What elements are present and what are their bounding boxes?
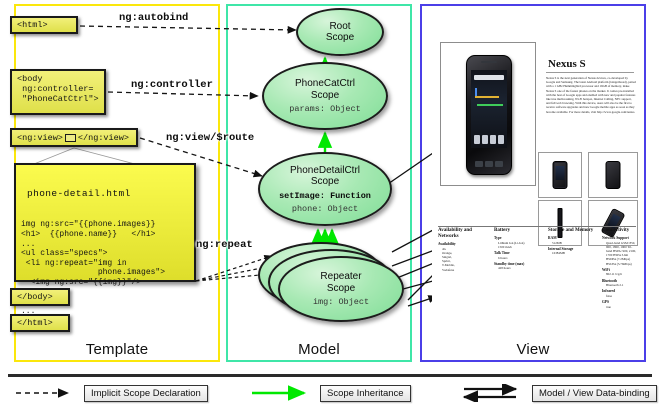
spec-value: 16384MB <box>548 251 596 255</box>
ngview-open-text: <ng:view> <box>17 133 63 143</box>
scope-root-line1: Root <box>329 21 350 33</box>
view-product-description: Nexus S is the next generation of Nexus … <box>546 76 636 138</box>
spec-value: Bluetooth 2.1 <box>602 283 654 287</box>
scope-repeater: Repeater Scope img: Object <box>278 256 404 322</box>
legend-label-data-binding: Model / View Data-binding <box>532 385 657 402</box>
code-html-open: <html> <box>10 16 78 34</box>
scope-phonecatctrl-line1: PhoneCatCtrl <box>295 78 355 90</box>
diagram-canvas: Template Model View <box>0 0 660 420</box>
code-body-close-text: </body> <box>17 292 53 302</box>
spec-col-header: Battery <box>494 228 538 234</box>
spec-value: HSUPA (5.76Mbps) <box>602 262 654 266</box>
legend-item-data-binding: Model / View Data-binding <box>460 382 657 404</box>
phone-hardware-keys <box>472 159 506 169</box>
spec-value: true <box>602 305 654 309</box>
code-html-open-text: <html> <box>17 20 48 30</box>
thumbnail-phone-front-icon <box>553 161 568 189</box>
view-title-rule <box>546 72 634 73</box>
spec-value: 428 hours <box>494 266 538 270</box>
spec-col-header: Storage and Memory <box>548 228 596 234</box>
spec-value: Vodafone <box>438 268 484 272</box>
scope-root-line2: Scope <box>326 32 354 44</box>
scope-phonedetailctrl-line2: Scope <box>311 176 339 188</box>
phone-hero-image <box>440 42 536 186</box>
label-ng-repeat: ng:repeat <box>196 239 253 251</box>
spec-value: 6 hours <box>494 256 538 260</box>
label-ng-controller: ng:controller <box>131 79 213 91</box>
view-thumbnail-2[interactable] <box>588 152 638 198</box>
panel-view-label: View <box>422 341 644 358</box>
code-body-open: <body ng:controller= "PhoneCatCtrl"> <box>10 69 106 115</box>
scope-phonecatctrl-line2: Scope <box>311 90 339 102</box>
ngview-placeholder-icon <box>65 134 76 142</box>
spec-col-header: Availability and Networks <box>438 228 484 240</box>
view-spec-table: Availability and Networks Availability 4… <box>438 228 636 302</box>
phone-urlbar-icon <box>474 75 504 80</box>
phone-screen <box>471 70 507 148</box>
scope-phonecatctrl-prop-params: params: Object <box>289 104 360 114</box>
scope-phonedetailctrl-prop-phone: phone: Object <box>292 204 358 214</box>
code-html-close: </html> <box>10 314 70 332</box>
label-ng-autobind: ng:autobind <box>119 12 188 24</box>
green-arrow-icon <box>248 384 314 402</box>
ngview-close-text: </ng:view> <box>78 133 129 143</box>
spec-value: 1500 mAh <box>494 245 538 249</box>
phone-app-icons <box>474 135 504 144</box>
view-product-title: Nexus S <box>548 58 586 70</box>
scope-repeater-prop-img: img: Object <box>313 297 369 307</box>
code-html-close-text: </html> <box>17 318 53 328</box>
legend: Implicit Scope Declaration Scope Inherit… <box>8 382 652 408</box>
code-body-open-text: <body ng:controller= "PhoneCatCtrl"> <box>17 74 99 104</box>
phone-graphic-green <box>477 104 503 106</box>
spec-column-availability: Availability and Networks Availability 4… <box>438 228 484 272</box>
legend-label-implicit-scope: Implicit Scope Declaration <box>84 385 208 402</box>
legend-item-scope-inheritance: Scope Inheritance <box>248 382 411 404</box>
view-thumbnail-1[interactable] <box>538 152 582 198</box>
sticky-note-title: phone-detail.html <box>21 187 189 200</box>
spec-column-storage: Storage and Memory RAM 512MB Internal St… <box>548 228 596 256</box>
phone-speaker-icon <box>481 61 497 63</box>
scope-repeater-line1: Repeater <box>320 271 361 283</box>
spec-col-header: Connectivity <box>602 228 654 234</box>
view-spec-rule <box>438 226 636 227</box>
spec-column-connectivity: Connectivity Network Support Quad-band G… <box>602 228 654 309</box>
scope-root: Root Scope <box>296 8 384 56</box>
panel-model-label: Model <box>228 341 410 358</box>
double-arrow-icon <box>460 384 526 402</box>
scope-phonedetailctrl-line1: PhoneDetailCtrl <box>290 165 360 177</box>
legend-divider <box>8 374 652 377</box>
spec-column-battery: Battery Type Lithium Ion (Li-Ion) 1500 m… <box>494 228 538 271</box>
legend-label-scope-inheritance: Scope Inheritance <box>320 385 411 402</box>
scope-phonedetailctrl-prop-setimage: setImage: Function <box>279 191 371 201</box>
spec-value: 512MB <box>548 241 596 245</box>
spec-value: 802.11 b/g/n <box>602 272 654 276</box>
scope-repeater-line2: Scope <box>327 283 355 295</box>
code-body-close: </body> <box>10 288 70 306</box>
scope-phonecatctrl: PhoneCatCtrl Scope params: Object <box>262 62 388 130</box>
legend-item-implicit-scope: Implicit Scope Declaration <box>12 382 208 404</box>
scope-phonedetailctrl: PhoneDetailCtrl Scope setImage: Function… <box>258 152 392 226</box>
dashed-arrow-icon <box>12 384 78 402</box>
sticky-note-phone-detail: phone-detail.html img ng:src="{{phone.im… <box>14 163 196 282</box>
panel-template-label: Template <box>16 341 218 358</box>
phone-device-icon <box>466 55 512 175</box>
spec-value: false <box>602 294 654 298</box>
code-ngview: <ng:view> </ng:view> <box>10 128 138 147</box>
label-ng-view-route: ng:view/$route <box>166 132 254 144</box>
phone-graphic-yellow <box>475 96 499 98</box>
thumbnail-phone-back-icon <box>606 161 621 189</box>
